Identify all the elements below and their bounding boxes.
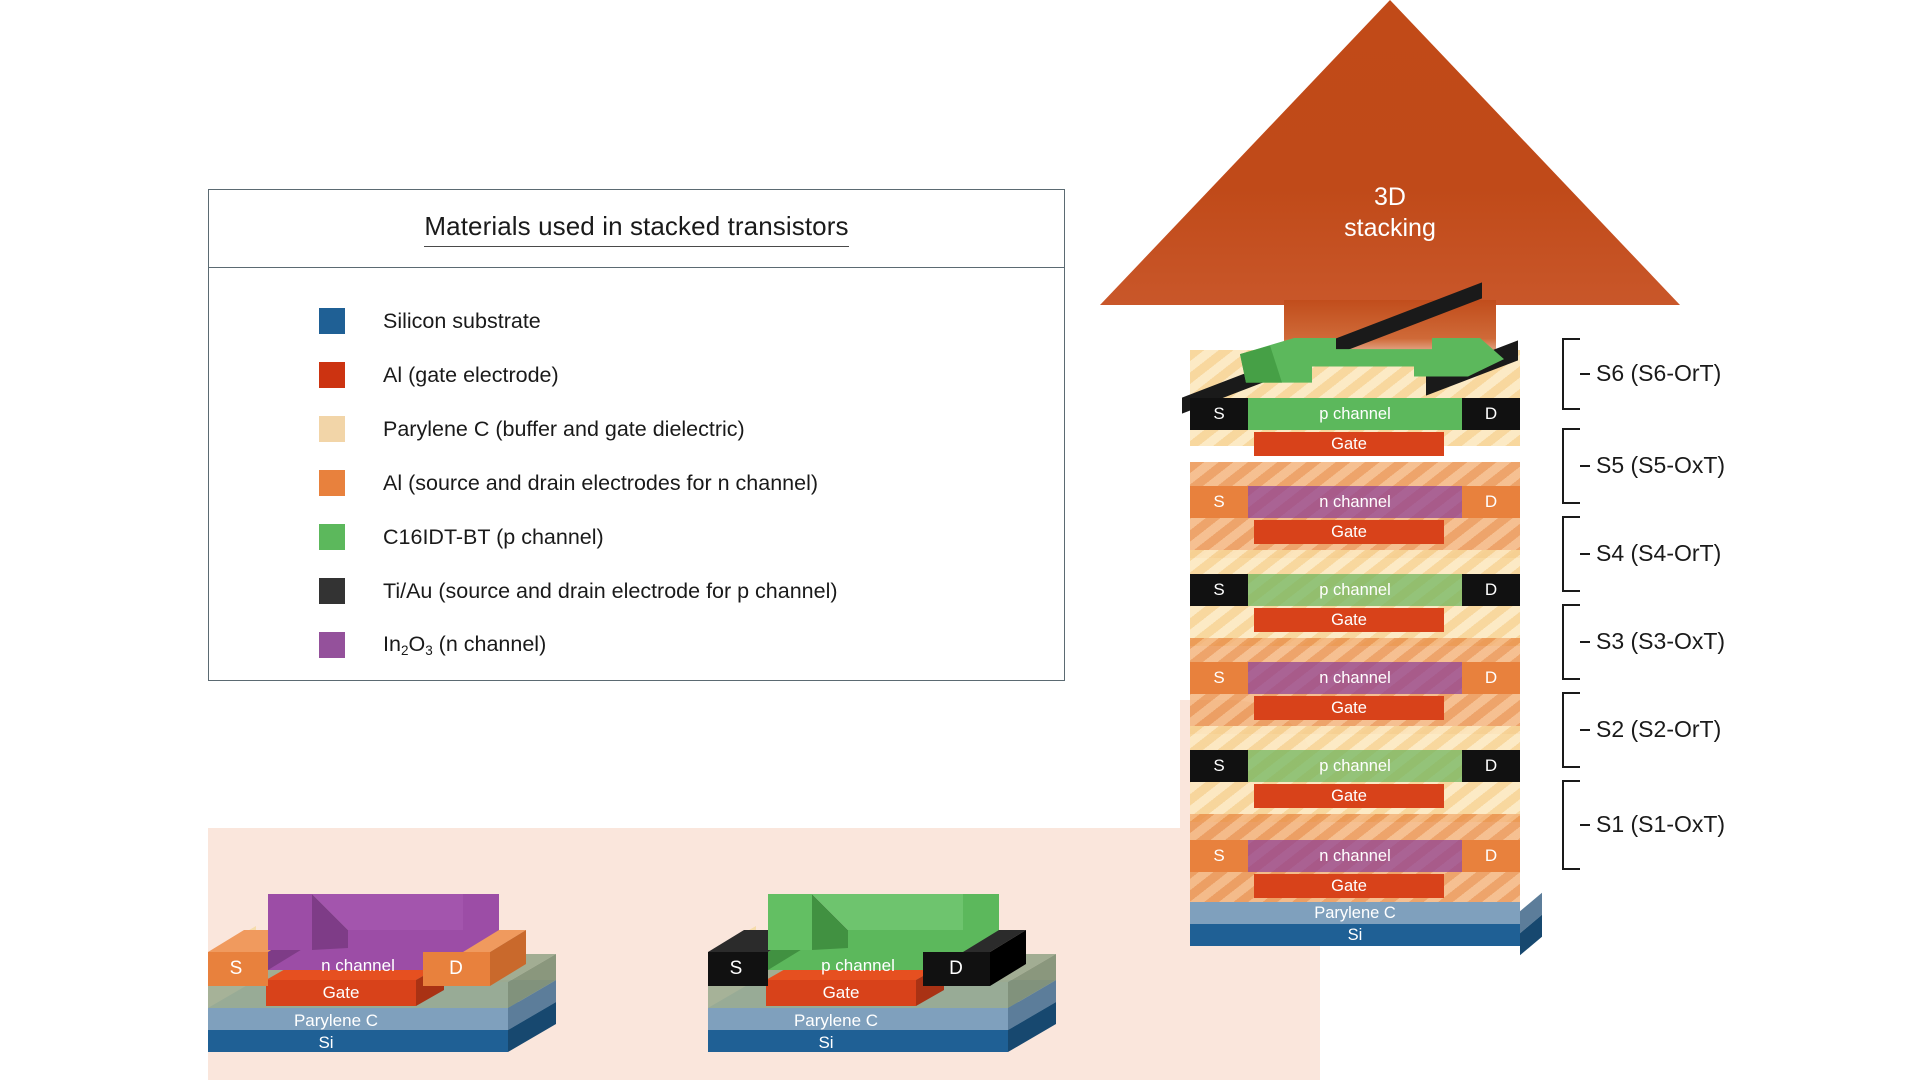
legend-item-parylene-c: Parylene C (buffer and gate dielectric) <box>209 402 1064 456</box>
drain-label: D <box>449 958 463 979</box>
tier-bracket-tick <box>1580 373 1590 375</box>
legend-item-label: Parylene C (buffer and gate dielectric) <box>383 417 745 442</box>
legend-item-label: Ti/Au (source and drain electrode for p … <box>383 579 838 604</box>
tier-bracket-tick <box>1580 465 1590 467</box>
gate-label: Gate <box>823 983 860 1002</box>
tier-bracket-tick <box>1580 824 1590 826</box>
drain-label: D <box>949 958 963 979</box>
tier-label-s6: S6 (S6-OrT) <box>1596 360 1721 387</box>
tier-device-s5: S n channel D <box>1190 486 1520 520</box>
channel-label: p channel <box>821 956 895 975</box>
legend-item-in2o3: In2O3 (n channel) <box>209 618 1064 672</box>
tier-label-s4: S4 (S4-OrT) <box>1596 540 1721 567</box>
color-swatch <box>319 470 345 496</box>
legend-item-al-gate-electrode: Al (gate electrode) <box>209 348 1064 402</box>
drain-electrode: D <box>1462 398 1520 430</box>
drain-electrode: D <box>1462 486 1520 518</box>
tier-device-s2: S p channel D <box>1190 750 1520 784</box>
drain-electrode: D <box>1462 840 1520 872</box>
legend-item-label: In2O3 (n channel) <box>383 632 546 658</box>
source-electrode: S <box>1190 486 1248 518</box>
color-swatch <box>319 308 345 334</box>
drain-electrode: D <box>1462 750 1520 782</box>
tier-device-s6: S p channel D <box>1190 398 1520 432</box>
ridge-r <box>963 894 999 930</box>
source-electrode: S <box>1190 398 1248 430</box>
tier-label-column: S6 (S6-OrT) S5 (S5-OxT) S4 (S4-OrT) S3 (… <box>1562 350 1892 1050</box>
arrow-label: 3D stacking <box>1100 182 1680 243</box>
source-label: S <box>230 958 243 979</box>
color-swatch <box>319 524 345 550</box>
legend-title: Materials used in stacked transistors <box>424 211 848 247</box>
source-electrode: S <box>1190 750 1248 782</box>
substrate-parylene-c: Parylene C <box>1190 902 1520 924</box>
legend-item-silicon-substrate: Silicon substrate <box>209 294 1064 348</box>
legend-item-label: C16IDT-BT (p channel) <box>383 525 604 550</box>
tier-bracket-s3 <box>1562 604 1580 680</box>
gate-label: Gate <box>323 983 360 1002</box>
tier-device-s3: S n channel D <box>1190 662 1520 696</box>
tier-label-s3: S3 (S3-OxT) <box>1596 628 1725 655</box>
drain-electrode: D <box>1462 662 1520 694</box>
tier-device-s1: S n channel D <box>1190 840 1520 874</box>
tier-bracket-tick <box>1580 553 1590 555</box>
gate-electrode-s5: Gate <box>1254 520 1444 544</box>
color-swatch <box>319 578 345 604</box>
legend-items: Silicon substrate Al (gate electrode) Pa… <box>209 268 1064 672</box>
p-channel-svg: Gate S D p channel Parylene C Si <box>708 830 1068 1060</box>
parylene-label: Parylene C <box>294 1011 378 1030</box>
silicon-front <box>208 1030 508 1052</box>
ridge-l <box>768 894 812 950</box>
silicon-label: Si <box>818 1033 833 1052</box>
legend-item-label: Al (source and drain electrodes for n ch… <box>383 471 818 496</box>
arrow-head-icon <box>1100 0 1680 305</box>
channel-layer: n channel <box>1248 840 1462 872</box>
tier-bracket-tick <box>1580 729 1590 731</box>
channel-layer: n channel <box>1248 486 1462 518</box>
ridge-r <box>463 894 499 930</box>
tier-device-s4: S p channel D <box>1190 574 1520 608</box>
legend-item-ti-au: Ti/Au (source and drain electrode for p … <box>209 564 1064 618</box>
color-swatch <box>319 416 345 442</box>
source-electrode: S <box>1190 840 1248 872</box>
n-channel-svg: Gate S D n channel Parylene C Si <box>208 830 568 1060</box>
source-electrode: S <box>1190 662 1248 694</box>
diagram-root: Materials used in stacked transistors Si… <box>0 0 1920 1080</box>
gate-electrode-s3: Gate <box>1254 696 1444 720</box>
channel-layer: p channel <box>1248 574 1462 606</box>
gate-electrode-s1: Gate <box>1254 874 1444 898</box>
legend-item-label: Silicon substrate <box>383 309 541 334</box>
tier-label-s1: S1 (S1-OxT) <box>1596 811 1725 838</box>
ridge-l <box>268 894 312 950</box>
channel-layer: p channel <box>1248 750 1462 782</box>
silicon-front <box>708 1030 1008 1052</box>
gate-electrode-s2: Gate <box>1254 784 1444 808</box>
tier-label-s5: S5 (S5-OxT) <box>1596 452 1725 479</box>
gate-electrode-s6: Gate <box>1254 432 1444 456</box>
gate-electrode-s4: Gate <box>1254 608 1444 632</box>
channel-layer: n channel <box>1248 662 1462 694</box>
tier-label-s2: S2 (S2-OrT) <box>1596 716 1721 743</box>
channel-layer: p channel <box>1248 398 1462 430</box>
n-channel-transistor-diagram: Gate S D n channel Parylene C Si <box>208 830 568 1060</box>
tier-bracket-s6 <box>1562 338 1580 410</box>
legend-item-label: Al (gate electrode) <box>383 363 559 388</box>
source-electrode: S <box>1190 574 1248 606</box>
materials-legend: Materials used in stacked transistors Si… <box>208 189 1065 681</box>
source-label: S <box>730 958 743 979</box>
tier-bracket-s2 <box>1562 692 1580 768</box>
tier-bracket-s4 <box>1562 516 1580 592</box>
legend-item-c16idt-bt: C16IDT-BT (p channel) <box>209 510 1064 564</box>
legend-header: Materials used in stacked transistors <box>209 190 1064 268</box>
channel-label: n channel <box>321 956 395 975</box>
stacked-transistor-tower: S p channel D Gate S n channel D Gate S … <box>1190 350 1550 1050</box>
tier-bracket-s5 <box>1562 428 1580 504</box>
tier-bracket-s1 <box>1562 780 1580 870</box>
substrate-silicon: Si <box>1190 924 1520 946</box>
silicon-label: Si <box>318 1033 333 1052</box>
legend-item-al-source-drain: Al (source and drain electrodes for n ch… <box>209 456 1064 510</box>
three-d-stacking-arrow: 3D stacking <box>1100 0 1680 370</box>
drain-electrode: D <box>1462 574 1520 606</box>
parylene-label: Parylene C <box>794 1011 878 1030</box>
p-channel-transistor-diagram: Gate S D p channel Parylene C Si <box>708 830 1068 1060</box>
color-swatch <box>319 632 345 658</box>
tier-bracket-tick <box>1580 641 1590 643</box>
color-swatch <box>319 362 345 388</box>
